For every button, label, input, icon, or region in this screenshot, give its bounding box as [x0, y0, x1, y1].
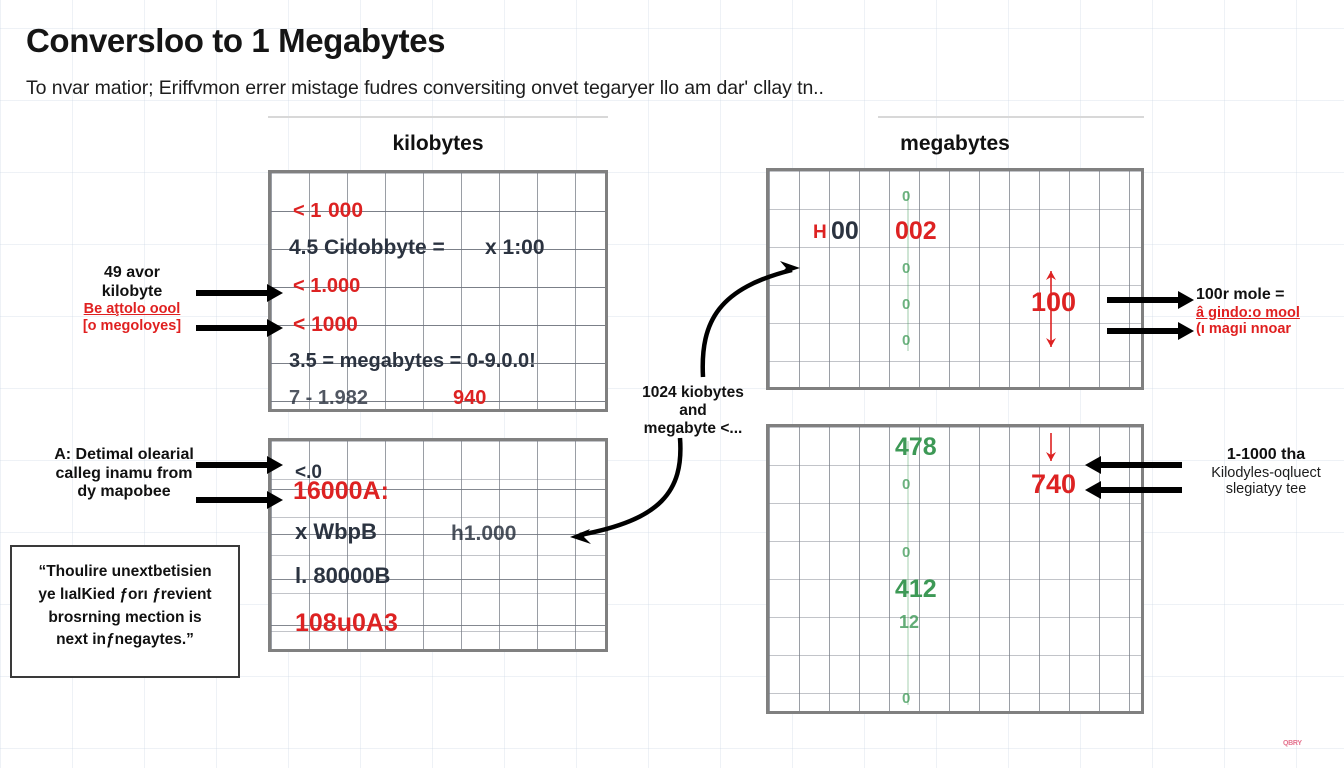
chart-mark: 00 — [831, 219, 859, 244]
watermark: QBRY — [1283, 740, 1302, 747]
column-title-megabytes: megabytes — [766, 132, 1144, 156]
annotation-line: and — [679, 402, 707, 419]
pointer-arrow-right-1 — [1107, 297, 1179, 303]
annotation-line: 100r mole = — [1196, 286, 1285, 303]
annotation-subline: Be aţtolo oool — [72, 301, 192, 318]
chart-row-value: 940 — [453, 388, 486, 408]
annotation-right-middle: 1-1000 tha Kilodyles-oqluect slegiatyy t… — [1190, 446, 1342, 498]
annotation-line: 49 avor — [104, 264, 160, 281]
pointer-arrow-left-3 — [196, 462, 268, 468]
quote-line: brosrning mection is — [48, 609, 201, 626]
chart-panel-kilobytes-bottom[interactable]: <.0 16000A: x WbpB h1.000 l. 80000B 108u… — [268, 438, 608, 652]
chart-row-value: < 1 — [293, 201, 321, 221]
annotation-subline: [o megoloyes] — [72, 318, 192, 335]
pointer-arrow-right-2 — [1107, 328, 1179, 334]
measure-line-green — [769, 171, 1144, 390]
chart-row-value: 3.5 = megabytes = 0-9.0.0! — [289, 351, 536, 371]
chart-row-value: < 1.000 — [293, 276, 360, 296]
annotation-line: A: Detimal olearial — [54, 446, 194, 463]
annotation-center-conversion: 1024 kiobytes and megabyte <... — [612, 384, 774, 438]
chart-mark: 12 — [899, 613, 919, 631]
column-divider-right — [878, 116, 1144, 118]
chart-mark: 0 — [902, 477, 910, 492]
page-subtitle: To nvar matior; Eriffvmon errer mistage … — [26, 77, 824, 100]
annotation-left-middle: A: Detimal olearial calleg inamu from dy… — [34, 446, 214, 502]
chart-row-value: h1.000 — [451, 523, 516, 544]
chart-mark: 412 — [895, 577, 937, 602]
chart-mark: 002 — [895, 219, 937, 244]
quote-text: “Thoulire unextbetisien ye lıalKied ƒorı… — [22, 561, 228, 652]
annotation-subline: (ı magıi nnoar — [1196, 321, 1344, 338]
quote-line: ye lıalKied ƒorı ƒrevient — [38, 586, 211, 603]
chart-row-value: < 1000 — [293, 314, 358, 335]
column-title-kilobytes: kilobytes — [268, 132, 608, 156]
annotation-line: dy mapobee — [77, 483, 170, 500]
annotation-line: Kilodyles-oqluect — [1190, 465, 1342, 482]
annotation-left-top: 49 avor kilobyte Be aţtolo oool [o megol… — [72, 264, 192, 335]
quote-line: “Thoulire unextbetisien — [38, 563, 211, 580]
chart-row-value: l. 80000B — [295, 565, 390, 587]
pointer-arrow-left-1 — [196, 290, 268, 296]
chart-mark: 0 — [902, 691, 910, 706]
pointer-arrow-left-4 — [196, 497, 268, 503]
pointer-arrow-right-4 — [1100, 487, 1182, 493]
chart-mark: 0 — [902, 333, 910, 348]
chart-row-value: 7 - 1.982 — [289, 388, 368, 408]
chart-row-value: x WbpB — [295, 521, 377, 543]
annotation-line: 1-1000 tha — [1227, 446, 1305, 463]
annotation-right-top: 100r mole = â gindo:o mool (ı magıi nnoa… — [1196, 286, 1344, 338]
chart-mark: 478 — [895, 435, 937, 460]
chart-mark: 0 — [902, 261, 910, 276]
chart-panel-kilobytes-top[interactable]: < 1 000 4.5 Cidobbyte = x 1:00 < 1.000 <… — [268, 170, 608, 412]
quote-line: next inƒnegaytes.” — [56, 631, 194, 648]
annotation-subline: â gindo:o mool — [1196, 305, 1344, 322]
annotation-line: 1024 kiobytes — [642, 384, 744, 401]
annotation-line: calleg inamu from — [56, 465, 193, 482]
chart-row-value: x 1:00 — [485, 237, 545, 258]
pointer-arrow-left-2 — [196, 325, 268, 331]
chart-row-value: 16000A: — [293, 479, 389, 504]
chart-row-value: 000 — [328, 200, 363, 221]
annotation-line: kilobyte — [102, 283, 162, 300]
chart-panel-megabytes-top[interactable]: H 00 002 0 0 0 0 100 — [766, 168, 1144, 390]
chart-row-value: 4.5 Cidobbyte = — [289, 237, 445, 258]
chart-mark: H — [813, 223, 827, 242]
chart-mark: 740 — [1031, 471, 1076, 498]
annotation-line: slegiatyy tee — [1190, 481, 1342, 498]
chart-row-value: 108u0A3 — [295, 611, 398, 636]
column-divider-left — [268, 116, 608, 118]
chart-mark: 0 — [902, 297, 910, 312]
annotation-line: megabyte <... — [644, 420, 743, 437]
page-title: Conversloo to 1 Megabytes — [26, 22, 445, 60]
chart-mark: 100 — [1031, 289, 1076, 316]
quote-callout-box: “Thoulire unextbetisien ye lıalKied ƒorı… — [10, 545, 240, 678]
chart-mark: 0 — [902, 189, 910, 204]
chart-mark: 0 — [902, 545, 910, 560]
pointer-arrow-right-3 — [1100, 462, 1182, 468]
page-root: Conversloo to 1 Megabytes To nvar matior… — [0, 0, 1344, 768]
